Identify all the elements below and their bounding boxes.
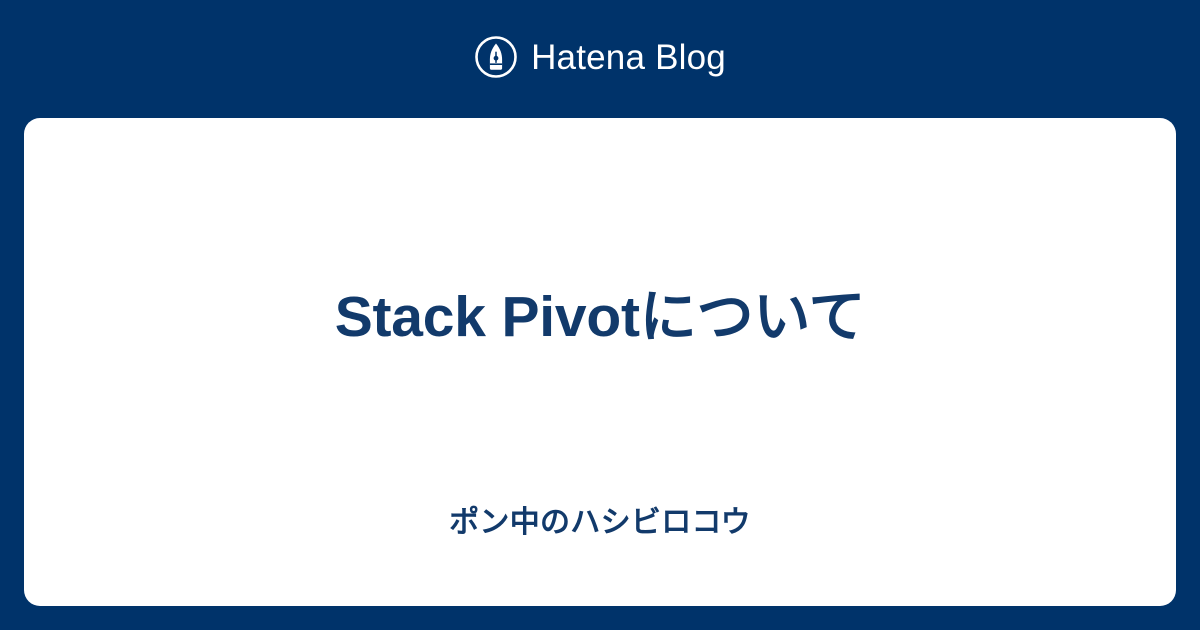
entry-card: Stack Pivotについて ポン中のハシビロコウ [24,118,1176,606]
page-title: Stack Pivotについて [24,280,1176,354]
blog-name: ポン中のハシビロコウ [24,503,1176,542]
brand-header: Hatena Blog [0,0,1200,118]
fountain-pen-nib-in-circle-icon [474,35,518,79]
entry-card-inner: Stack Pivotについて ポン中のハシビロコウ [24,118,1176,606]
og-image-canvas: Hatena Blog Stack Pivotについて ポン中のハシビロコウ [0,0,1200,630]
brand-wordmark: Hatena Blog [531,40,726,75]
